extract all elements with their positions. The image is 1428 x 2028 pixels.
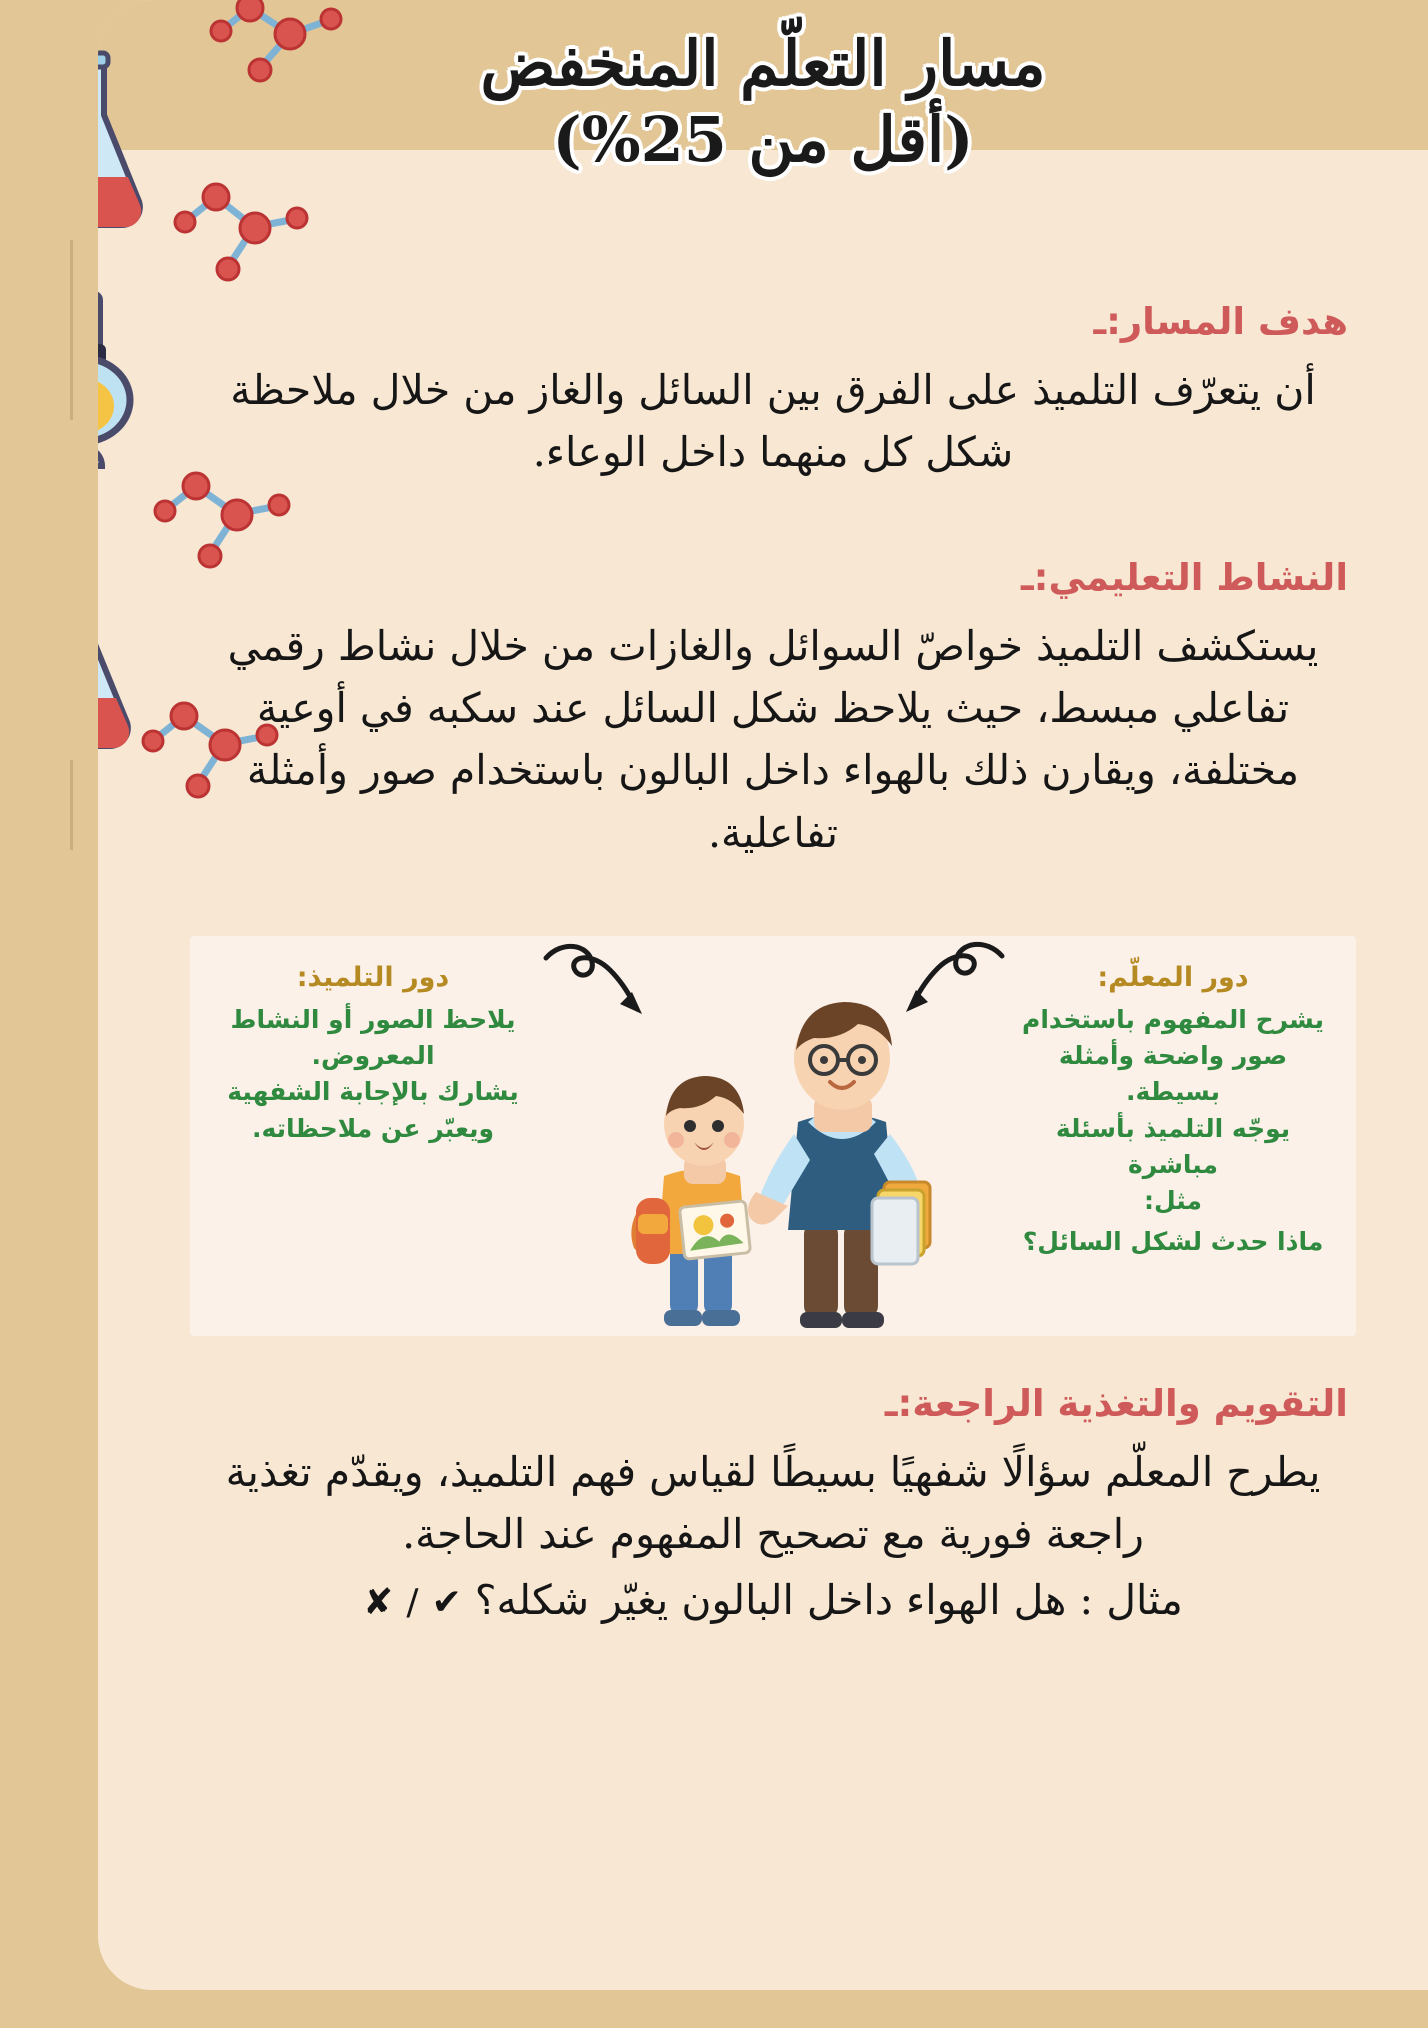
section-goal: هدف المسار:ـ أن يتعرّف التلميذ على الفرق… bbox=[176, 300, 1370, 484]
spacer-goal-activity bbox=[176, 484, 1370, 556]
check-mark-icon: ✔ bbox=[432, 1582, 462, 1623]
teacher-example-question: ماذا حدث لشكل السائل؟ bbox=[1008, 1224, 1338, 1260]
title-line-1: مسار التعلّم المنخفض bbox=[98, 26, 1428, 102]
teacher-figure bbox=[748, 1002, 930, 1328]
activity-body: يستكشف التلميذ خواصّ السوائل والغازات من… bbox=[176, 615, 1370, 864]
poster-page: مسار التعلّم المنخفض (أقل من 25%) هدف ال… bbox=[0, 0, 1428, 2028]
teacher-role-block: دور المعلّم: يشرح المفهوم باستخدام صور و… bbox=[1008, 962, 1338, 1261]
poster-card: مسار التعلّم المنخفض (أقل من 25%) هدف ال… bbox=[98, 0, 1428, 1990]
strip-rule-top bbox=[70, 240, 73, 420]
student-line-1: يلاحظ الصور أو النشاط bbox=[231, 1005, 516, 1034]
mark-separator: / bbox=[406, 1582, 418, 1623]
poster-title: مسار التعلّم المنخفض (أقل من 25%) bbox=[98, 26, 1428, 177]
goal-body: أن يتعرّف التلميذ على الفرق بين السائل و… bbox=[176, 359, 1370, 484]
student-figure bbox=[631, 1076, 750, 1326]
cross-mark-icon: ✘ bbox=[363, 1582, 393, 1623]
student-line-4: ويعبّر عن ملاحظاته. bbox=[252, 1114, 494, 1143]
teacher-role-text: يشرح المفهوم باستخدام صور واضحة وأمثلة ب… bbox=[1008, 1002, 1338, 1261]
activity-heading: النشاط التعليمي:ـ bbox=[176, 556, 1370, 599]
teacher-line-1: يشرح المفهوم باستخدام bbox=[1022, 1005, 1324, 1034]
poster-content: هدف المسار:ـ أن يتعرّف التلميذ على الفرق… bbox=[98, 300, 1428, 1631]
strip-rule-mid bbox=[70, 760, 73, 850]
teacher-line-2: صور واضحة وأمثلة بسيطة. bbox=[1059, 1041, 1287, 1106]
student-role-block: دور التلميذ: يلاحظ الصور أو النشاط المعر… bbox=[208, 962, 538, 1147]
assessment-heading: التقويم والتغذية الراجعة:ـ bbox=[176, 1382, 1370, 1425]
goal-heading: هدف المسار:ـ bbox=[176, 300, 1370, 343]
teacher-and-student-illustration bbox=[608, 976, 938, 1336]
assessment-example-row: مثال : هل الهواء داخل البالون يغيّر شكله… bbox=[176, 1570, 1370, 1632]
student-line-3: يشارك بالإجابة الشفهية bbox=[227, 1077, 519, 1106]
teacher-role-title: دور المعلّم: bbox=[1008, 962, 1338, 993]
student-line-2: المعروض. bbox=[311, 1041, 434, 1070]
spacer-activity-roles bbox=[176, 864, 1370, 936]
title-line-2: (أقل من 25%) bbox=[98, 102, 1428, 178]
section-activity: النشاط التعليمي:ـ يستكشف التلميذ خواصّ ا… bbox=[176, 556, 1370, 864]
teacher-line-3: يوجّه التلميذ بأسئلة مباشرة bbox=[1056, 1114, 1290, 1179]
student-role-title: دور التلميذ: bbox=[208, 962, 538, 993]
student-role-text: يلاحظ الصور أو النشاط المعروض. يشارك بال… bbox=[208, 1002, 538, 1147]
section-assessment: التقويم والتغذية الراجعة:ـ يطرح المعلّم … bbox=[176, 1382, 1370, 1631]
roles-panel: دور المعلّم: يشرح المفهوم باستخدام صور و… bbox=[190, 936, 1356, 1336]
assessment-body: يطرح المعلّم سؤالًا شفهيًا بسيطًا لقياس … bbox=[176, 1441, 1370, 1566]
teacher-line-4: مثل: bbox=[1144, 1186, 1202, 1215]
assessment-example-text: مثال : هل الهواء داخل البالون يغيّر شكله… bbox=[475, 1576, 1183, 1624]
spacer-roles-assessment bbox=[176, 1336, 1370, 1382]
left-decorative-strip bbox=[0, 0, 98, 2028]
